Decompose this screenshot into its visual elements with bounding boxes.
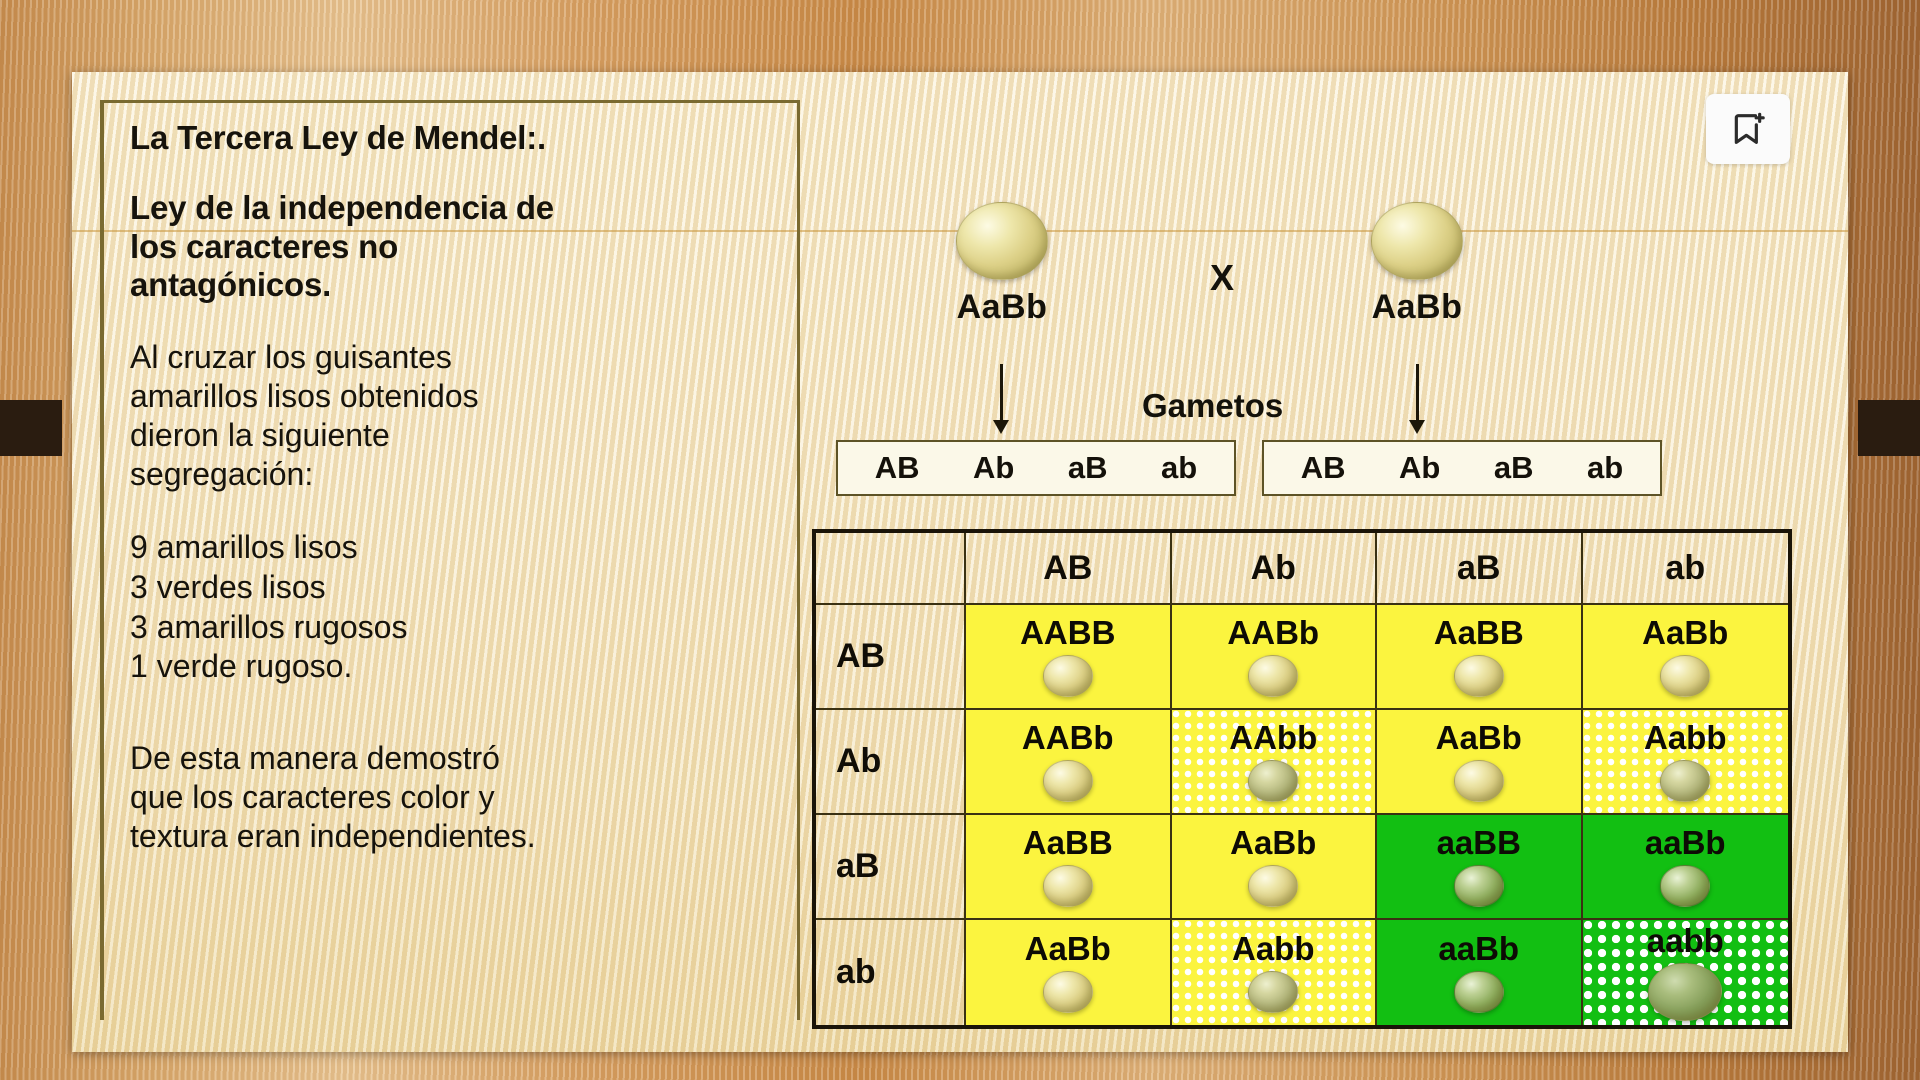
punnett-cell-0-0: AABB	[966, 605, 1172, 710]
lesson-text-panel: La Tercera Ley de Mendel:. Ley de la ind…	[100, 100, 800, 1020]
panel-heading-line-3: los caracteres no	[130, 228, 779, 266]
panel-heading-line-4: antagónicos.	[130, 266, 779, 304]
paragraph-one-line-3: dieron la siguiente	[130, 416, 779, 455]
genotype-label: AABb	[1227, 616, 1319, 649]
punnett-cell-2-0: AaBB	[966, 815, 1172, 920]
pea-yellow-smooth-icon	[1660, 655, 1710, 697]
gamete-left-0: AB	[875, 450, 920, 486]
panel-heading-line-2: Ley de la independencia de	[130, 189, 779, 227]
genotype-label: AaBb	[1230, 826, 1316, 859]
gamete-right-3: ab	[1587, 450, 1623, 486]
punnett-cell-1-2: AaBb	[1377, 710, 1583, 815]
ratio-item-green-wrinkled: 1 verde rugoso.	[130, 647, 779, 687]
paragraph-one: Al cruzar los guisantes amarillos lisos …	[130, 338, 779, 494]
punnett-cell-3-2: aaBb	[1377, 920, 1583, 1025]
punnett-cell-2-2: aaBB	[1377, 815, 1583, 920]
gametes-box-left: AB Ab aB ab	[836, 440, 1236, 496]
punnett-cell-3-0: AaBb	[966, 920, 1172, 1025]
pea-yellow-smooth-icon	[1043, 865, 1093, 907]
punnett-cell-2-1: AaBb	[1172, 815, 1378, 920]
punnett-cell-0-2: AaBB	[1377, 605, 1583, 710]
parent-left-pea-icon	[956, 202, 1048, 280]
punnett-col-header-3: ab	[1583, 533, 1789, 605]
bookmark-add-icon	[1728, 109, 1768, 149]
cross-diagram: AaBb X AaBb Gametos AB Ab aB ab AB Ab aB…	[812, 92, 1832, 1032]
punnett-cell-1-1: AAbb	[1172, 710, 1378, 815]
genotype-label: Aabb	[1232, 932, 1315, 965]
bookmark-add-button[interactable]	[1706, 94, 1790, 164]
punnett-square-table: AB Ab aB ab AB AABB AABb AaBB AaBb	[812, 529, 1792, 1029]
genotype-label: AaBB	[1023, 826, 1113, 859]
pea-green-smooth-icon	[1660, 865, 1710, 907]
pea-yellow-smooth-icon	[1454, 760, 1504, 802]
pea-yellow-smooth-icon	[1043, 655, 1093, 697]
punnett-col-header-2: aB	[1377, 533, 1583, 605]
gamete-left-1: Ab	[973, 450, 1014, 486]
pea-green-smooth-icon	[1454, 865, 1504, 907]
gamete-left-3: ab	[1161, 450, 1197, 486]
ratio-item-green-smooth: 3 verdes lisos	[130, 568, 779, 608]
pea-yellow-smooth-icon	[1248, 655, 1298, 697]
parent-right: AaBb	[1357, 202, 1477, 327]
slide-canvas: La Tercera Ley de Mendel:. Ley de la ind…	[72, 72, 1848, 1052]
left-edge-band	[0, 400, 62, 456]
parent-left-label: AaBb	[942, 288, 1062, 327]
paragraph-one-line-1: Al cruzar los guisantes	[130, 338, 779, 377]
parent-right-label: AaBb	[1357, 288, 1477, 327]
punnett-cell-0-3: AaBb	[1583, 605, 1789, 710]
gametes-box-right: AB Ab aB ab	[1262, 440, 1662, 496]
parent-right-pea-icon	[1371, 202, 1463, 280]
punnett-row-header-2: aB	[816, 815, 966, 920]
genotype-label: aaBb	[1645, 826, 1726, 859]
panel-heading-line-1: La Tercera Ley de Mendel:.	[130, 119, 779, 157]
punnett-col-header-0: AB	[966, 533, 1172, 605]
punnett-cell-0-1: AABb	[1172, 605, 1378, 710]
segregation-ratio-list: 9 amarillos lisos 3 verdes lisos 3 amari…	[130, 528, 779, 687]
pea-green-smooth-icon	[1454, 971, 1504, 1013]
gamete-right-2: aB	[1494, 450, 1534, 486]
paragraph-two-line-3: textura eran independientes.	[130, 817, 779, 856]
punnett-cell-3-1: Aabb	[1172, 920, 1378, 1025]
genotype-label: aaBb	[1438, 932, 1519, 965]
punnett-cell-3-3: aabb	[1583, 920, 1789, 1025]
pea-yellow-smooth-icon	[1043, 971, 1093, 1013]
genotype-label: Aabb	[1644, 721, 1727, 754]
punnett-cell-2-3: aaBb	[1583, 815, 1789, 920]
paragraph-two: De esta manera demostró que los caracter…	[130, 739, 779, 856]
genotype-label: AaBb	[1436, 721, 1522, 754]
gamete-left-2: aB	[1068, 450, 1108, 486]
meiosis-arrow-left-icon	[1000, 364, 1003, 422]
punnett-row-header-0: AB	[816, 605, 966, 710]
genotype-label: AaBb	[1025, 932, 1111, 965]
genotype-label: AaBb	[1642, 616, 1728, 649]
punnett-row-header-1: Ab	[816, 710, 966, 815]
ratio-item-yellow-wrinkled: 3 amarillos rugosos	[130, 608, 779, 648]
pea-green-wrinkled-icon	[1648, 963, 1722, 1021]
pea-yellow-smooth-icon	[1248, 865, 1298, 907]
genotype-label: aabb	[1647, 924, 1724, 957]
punnett-cell-1-3: Aabb	[1583, 710, 1789, 815]
pea-yellow-wrinkled-icon	[1248, 971, 1298, 1013]
genotype-label: AaBB	[1434, 616, 1524, 649]
pea-yellow-smooth-icon	[1043, 760, 1093, 802]
genotype-label: AABB	[1020, 616, 1115, 649]
meiosis-arrow-right-icon	[1416, 364, 1419, 422]
pea-yellow-smooth-icon	[1454, 655, 1504, 697]
paragraph-one-line-2: amarillos lisos obtenidos	[130, 377, 779, 416]
genotype-label: AAbb	[1229, 721, 1317, 754]
pea-yellow-wrinkled-icon	[1660, 760, 1710, 802]
punnett-col-header-1: Ab	[1172, 533, 1378, 605]
ratio-item-yellow-smooth: 9 amarillos lisos	[130, 528, 779, 568]
paragraph-one-line-4: segregación:	[130, 455, 779, 494]
punnett-cell-1-0: AABb	[966, 710, 1172, 815]
genotype-label: aaBB	[1437, 826, 1521, 859]
paragraph-two-line-1: De esta manera demostró	[130, 739, 779, 778]
gamete-right-1: Ab	[1399, 450, 1440, 486]
punnett-corner-cell	[816, 533, 966, 605]
right-edge-band	[1858, 400, 1920, 456]
gamete-right-0: AB	[1301, 450, 1346, 486]
paragraph-two-line-2: que los caracteres color y	[130, 778, 779, 817]
pea-yellow-wrinkled-icon	[1248, 760, 1298, 802]
punnett-row-header-3: ab	[816, 920, 966, 1025]
cross-symbol: X	[1210, 257, 1234, 299]
heading-gap	[130, 157, 779, 189]
gametos-title: Gametos	[1142, 387, 1283, 425]
genotype-label: AABb	[1022, 721, 1114, 754]
parent-left: AaBb	[942, 202, 1062, 327]
